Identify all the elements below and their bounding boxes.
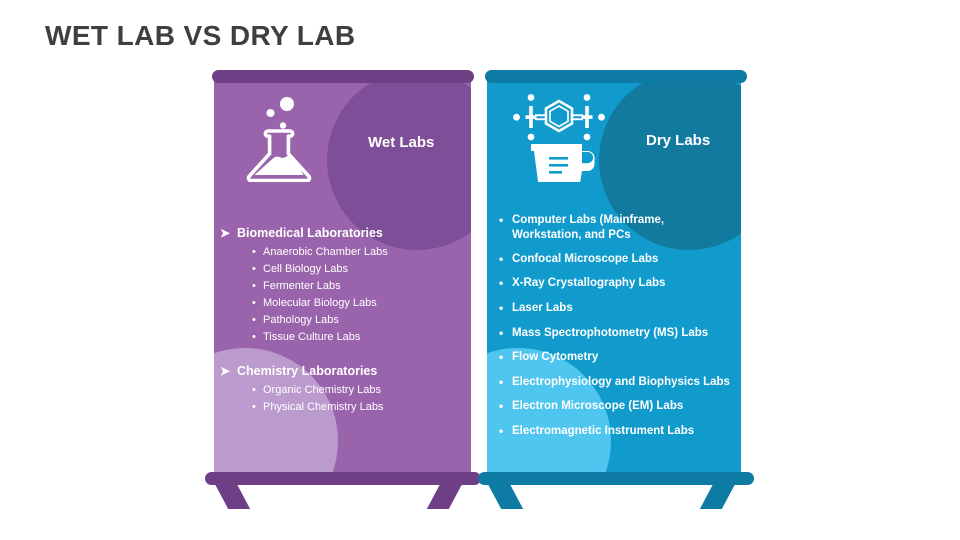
dry-lab-label: Dry Labs (646, 132, 710, 149)
list-item: • Organic Chemistry Labs (252, 382, 468, 399)
list-item: • Computer Labs (Mainframe, Workstation,… (499, 213, 737, 243)
list-item: • Molecular Biology Labs (252, 295, 468, 312)
bullet-dot-icon: • (499, 399, 512, 415)
group-item-list: • Anaerobic Chamber Labs • Cell Biology … (220, 244, 468, 346)
group-heading-row: ➤ Biomedical Laboratories (220, 226, 468, 241)
list-item: • Electron Microscope (EM) Labs (499, 399, 737, 415)
list-item: • Anaerobic Chamber Labs (252, 244, 468, 261)
list-item: • Electromagnetic Instrument Labs (499, 424, 737, 440)
list-item-label: Anaerobic Chamber Labs (263, 244, 388, 261)
beaker-molecule-icon (507, 88, 611, 182)
group-heading-text: Chemistry Laboratories (237, 364, 377, 378)
wet-lab-bottom-bar (205, 472, 481, 485)
group-item-list: • Organic Chemistry Labs • Physical Chem… (220, 382, 468, 416)
dry-lab-leg-right (700, 482, 736, 509)
list-item-label: Laser Labs (512, 301, 573, 316)
group-heading-text: Biomedical Laboratories (237, 226, 383, 240)
list-item-label: Confocal Microscope Labs (512, 252, 658, 267)
list-item-label: Cell Biology Labs (263, 261, 348, 278)
list-item: • Tissue Culture Labs (252, 329, 468, 346)
bullet-dot-icon: • (252, 312, 263, 329)
dry-lab-content: • Computer Labs (Mainframe, Workstation,… (499, 213, 737, 449)
list-item-label: Electron Microscope (EM) Labs (512, 399, 683, 414)
list-item-label: Pathology Labs (263, 312, 339, 329)
list-item-label: Electrophysiology and Biophysics Labs (512, 375, 730, 390)
bullet-dot-icon: • (499, 301, 512, 317)
list-item-label: Molecular Biology Labs (263, 295, 377, 312)
list-item-label: Fermenter Labs (263, 278, 341, 295)
list-item: • Cell Biology Labs (252, 261, 468, 278)
list-item-label: Computer Labs (Mainframe, Workstation, a… (512, 213, 730, 243)
bullet-dot-icon: • (252, 244, 263, 261)
bullet-dot-icon: • (252, 382, 263, 399)
bullet-dot-icon: • (499, 375, 512, 391)
dry-lab-leg-left (487, 482, 523, 509)
wet-lab-top-bar (212, 70, 474, 83)
slide-canvas: WET LAB VS DRY LAB Wet Labs (0, 0, 960, 540)
bullet-dot-icon: • (252, 295, 263, 312)
list-item-label: Flow Cytometry (512, 350, 598, 365)
erlenmeyer-flask-icon (243, 96, 315, 182)
wet-lab-header-circle (327, 78, 471, 250)
bullet-dot-icon: • (252, 261, 263, 278)
list-item: • Mass Spectrophotometry (MS) Labs (499, 326, 737, 342)
list-item: • Pathology Labs (252, 312, 468, 329)
list-item: • Physical Chemistry Labs (252, 399, 468, 416)
list-item: • Confocal Microscope Labs (499, 252, 737, 268)
group-heading-row: ➤ Chemistry Laboratories (220, 364, 468, 379)
bullet-dot-icon: • (499, 213, 512, 229)
bullet-dot-icon: • (499, 252, 512, 268)
page-title: WET LAB VS DRY LAB (45, 20, 356, 52)
list-item-label: Physical Chemistry Labs (263, 399, 383, 416)
list-item-label: Mass Spectrophotometry (MS) Labs (512, 326, 708, 341)
list-item: • Electrophysiology and Biophysics Labs (499, 375, 737, 391)
bullet-dot-icon: • (499, 350, 512, 366)
wet-lab-group-chemistry: ➤ Chemistry Laboratories • Organic Chemi… (220, 364, 468, 416)
bullet-dot-icon: • (252, 399, 263, 416)
wet-lab-group-biomedical: ➤ Biomedical Laboratories • Anaerobic Ch… (220, 226, 468, 346)
bullet-dot-icon: • (499, 424, 512, 440)
arrow-bullet-icon: ➤ (220, 364, 237, 379)
arrow-bullet-icon: ➤ (220, 226, 237, 241)
dry-lab-bottom-bar (478, 472, 754, 485)
list-item-label: Tissue Culture Labs (263, 329, 360, 346)
list-item-label: X-Ray Crystallography Labs (512, 276, 665, 291)
dry-lab-item-list: • Computer Labs (Mainframe, Workstation,… (499, 213, 737, 440)
bullet-dot-icon: • (499, 276, 512, 292)
list-item: • Laser Labs (499, 301, 737, 317)
wet-lab-leg-left (214, 482, 250, 509)
list-item: • X-Ray Crystallography Labs (499, 276, 737, 292)
list-item: • Flow Cytometry (499, 350, 737, 366)
wet-lab-label: Wet Labs (368, 134, 434, 151)
wet-lab-content: ➤ Biomedical Laboratories • Anaerobic Ch… (220, 226, 468, 427)
bullet-dot-icon: • (499, 326, 512, 342)
list-item-label: Electromagnetic Instrument Labs (512, 424, 694, 439)
list-item-label: Organic Chemistry Labs (263, 382, 381, 399)
dry-lab-top-bar (485, 70, 747, 83)
list-item: • Fermenter Labs (252, 278, 468, 295)
wet-lab-leg-right (427, 482, 463, 509)
bullet-dot-icon: • (252, 329, 263, 346)
bullet-dot-icon: • (252, 278, 263, 295)
